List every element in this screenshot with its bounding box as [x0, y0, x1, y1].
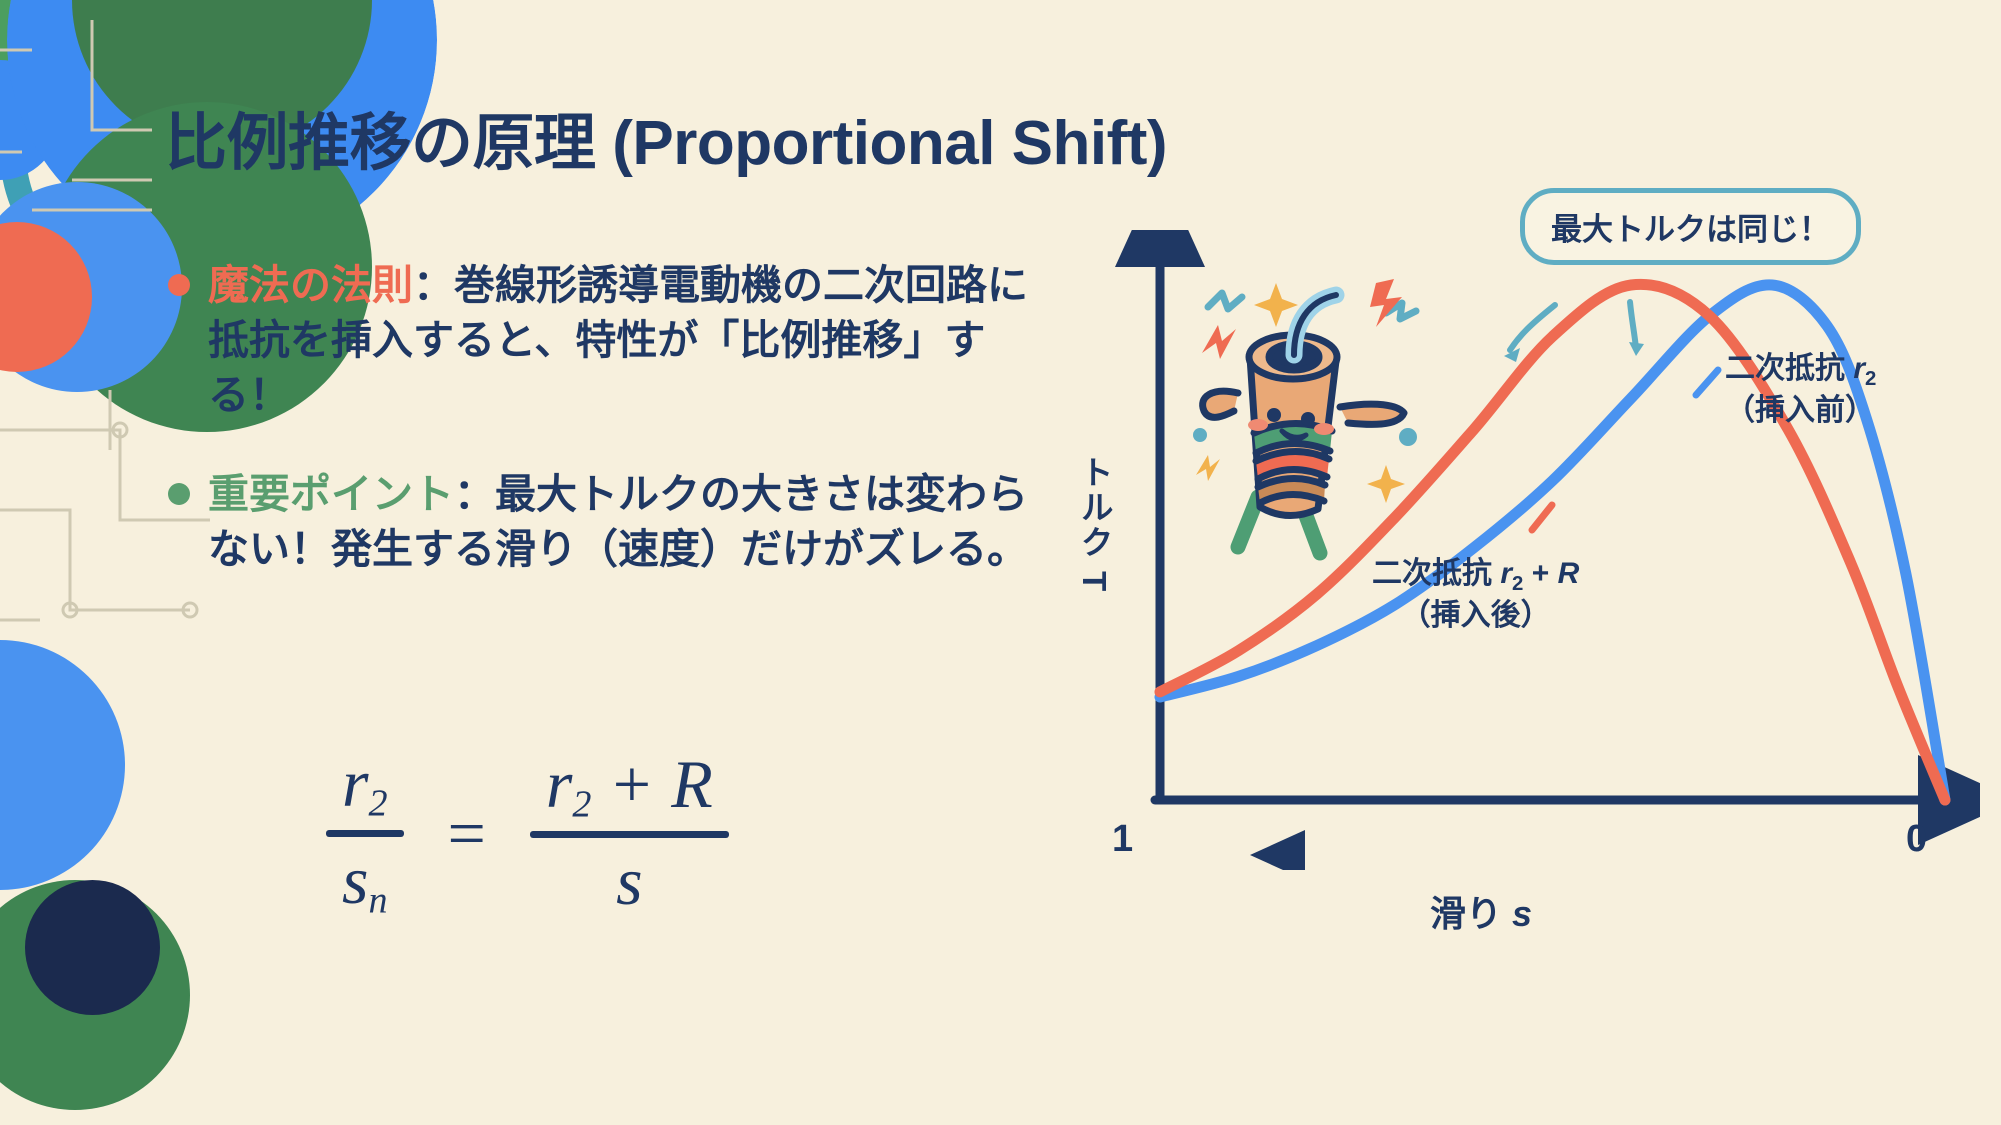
side-blob-left-blue — [0, 640, 125, 890]
resistor-mascot-icon — [1190, 265, 1450, 565]
bullet-dot-icon — [168, 483, 190, 505]
legend-tick-red — [1532, 505, 1552, 530]
slip-direction-arrow-head — [1250, 830, 1305, 870]
legend-blue-line2: （挿入前） — [1725, 394, 1875, 427]
corner-blob-bottom-right-blue — [0, 182, 182, 392]
legend-tick-blue — [1696, 370, 1718, 395]
bullet-separator: ： — [454, 471, 495, 517]
torque-slip-chart: トルク T — [1100, 230, 1980, 1020]
max-torque-callout: 最大トルクは同じ！ — [1520, 188, 1861, 265]
bullet-list: 魔法の法則：巻線形誘導電動機の二次回路に抵抗を挿入すると、特性が「比例推移」する… — [168, 258, 1028, 621]
circuit-pattern-top-right — [0, 10, 152, 240]
chart-legend-red: 二次抵抗 r2 + R （挿入後） — [1372, 555, 1579, 636]
legend-blue-line1: 二次抵抗 r2 — [1725, 352, 1876, 385]
bullet-separator: ： — [413, 262, 454, 308]
corner-blob-bottom-right-orange-large — [0, 222, 92, 372]
bullet-dot-icon — [168, 274, 190, 296]
chart-x-axis-label: 滑り s — [1430, 885, 1532, 937]
formula-left-denominator: sn — [326, 837, 404, 927]
bullet-lead: 重要ポイント — [208, 471, 454, 517]
formula-right-denominator: s — [600, 838, 658, 925]
chart-x-tick-1: 1 — [1112, 818, 1133, 861]
callout-arrow-right-head — [1629, 342, 1644, 356]
callout-leader-right — [1630, 302, 1636, 348]
formula-right-fraction: r2 + R s — [530, 741, 729, 925]
formula-equals-sign: = — [448, 794, 486, 873]
circuit-pattern-bottom-right — [0, 62, 42, 262]
corner-blob-top-left-blue — [0, 60, 60, 180]
chart-x-tick-0: 0 — [1906, 818, 1927, 861]
list-item: 魔法の法則：巻線形誘導電動機の二次回路に抵抗を挿入すると、特性が「比例推移」する… — [168, 258, 1028, 423]
side-blob-left-navy — [25, 880, 160, 1015]
bullet-text: 魔法の法則：巻線形誘導電動機の二次回路に抵抗を挿入すると、特性が「比例推移」する… — [208, 258, 1028, 423]
list-item: 重要ポイント：最大トルクの大きさは変わらない！発生する滑り（速度）だけがズレる。 — [168, 467, 1028, 577]
proportional-shift-formula: r2 sn = r2 + R s — [300, 740, 755, 926]
page-title: 比例推移の原理 (Proportional Shift) — [165, 92, 1167, 182]
formula-left-fraction: r2 sn — [326, 740, 404, 926]
chart-legend-blue: 二次抵抗 r2 （挿入前） — [1725, 350, 1876, 431]
legend-red-line2: （挿入後） — [1401, 599, 1551, 632]
slide-root: 比例推移の原理 (Proportional Shift) 魔法の法則：巻線形誘導… — [0, 0, 2001, 1125]
formula-right-numerator: r2 + R — [530, 741, 729, 831]
bullet-text: 重要ポイント：最大トルクの大きさは変わらない！発生する滑り（速度）だけがズレる。 — [208, 467, 1028, 577]
corner-blob-top-left-green — [0, 0, 120, 110]
formula-left-numerator: r2 — [326, 740, 404, 830]
fraction-bar — [530, 831, 729, 838]
bullet-lead: 魔法の法則 — [208, 262, 413, 308]
fraction-bar — [326, 830, 404, 837]
side-blob-left-green — [0, 880, 190, 1110]
